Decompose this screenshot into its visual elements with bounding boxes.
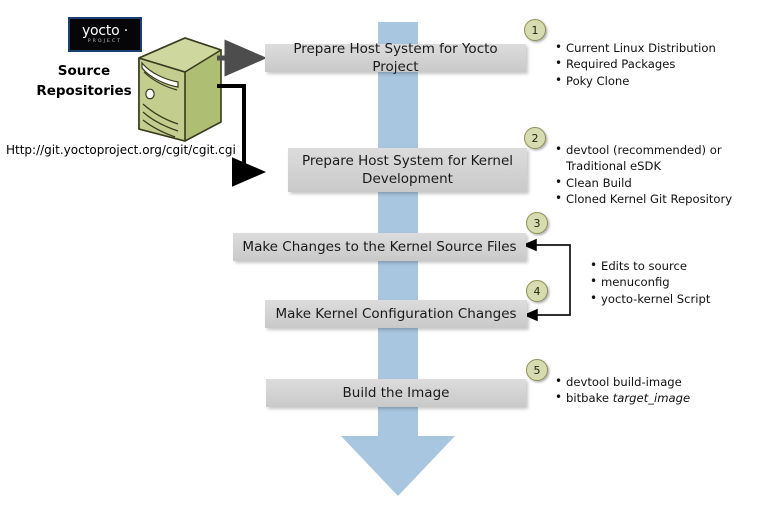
note-item: Required Packages	[566, 56, 763, 72]
note-item: devtool build-image	[566, 374, 758, 390]
yocto-project-logo: yocto · PROJECT	[68, 17, 142, 52]
process-box-step3[interactable]: Make Changes to the Kernel Source Files	[233, 233, 526, 261]
source-repositories-label: Source Repositories	[26, 62, 142, 101]
main-flow-arrow-shaft	[378, 22, 418, 437]
note-item: Clean Build	[566, 175, 759, 191]
yocto-logo-subtext: PROJECT	[88, 40, 122, 45]
note-item: Cloned Kernel Git Repository	[566, 191, 759, 207]
step-circle-2: 2	[524, 127, 546, 149]
diagram-canvas: yocto · PROJECT Source Repositories Http…	[0, 0, 769, 517]
step-circle-1: 1	[524, 19, 546, 41]
main-flow-arrow-head	[341, 436, 455, 496]
source-repositories-label-line2: Repositories	[26, 82, 142, 102]
source-repositories-url: Http://git.yoctoproject.org/cgit/cgit.cg…	[6, 143, 236, 157]
step-circle-5: 5	[526, 359, 548, 381]
process-box-step4[interactable]: Make Kernel Configuration Changes	[265, 300, 527, 328]
notes-step2: devtool (recommended) or Traditional eSD…	[553, 142, 759, 208]
step-circle-3: 3	[526, 212, 548, 234]
note-item: yocto-kernel Script	[601, 291, 763, 307]
note-item: Poky Clone	[566, 73, 763, 89]
note-item-emphasis: target_image	[613, 391, 690, 405]
notes-step3-step4: Edits to source menuconfig yocto-kernel …	[588, 258, 763, 307]
note-item: Current Linux Distribution	[566, 40, 763, 56]
note-item-prefix: bitbake	[566, 391, 613, 405]
process-box-step1[interactable]: Prepare Host System for Yocto Project	[265, 44, 526, 72]
notes-step5: devtool build-image bitbake target_image	[553, 374, 758, 407]
source-repositories-label-line1: Source	[26, 62, 142, 82]
process-box-step5[interactable]: Build the Image	[266, 379, 526, 407]
note-item: Edits to source	[601, 258, 763, 274]
note-item: menuconfig	[601, 274, 763, 290]
yocto-logo-wordmark: yocto ·	[82, 24, 128, 38]
step-circle-4: 4	[526, 280, 548, 302]
process-box-step2[interactable]: Prepare Host System for Kernel Developme…	[288, 148, 527, 192]
server-tower-icon	[133, 36, 225, 143]
note-item: bitbake target_image	[566, 390, 758, 406]
note-item: devtool (recommended) or Traditional eSD…	[566, 142, 759, 175]
notes-step1: Current Linux Distribution Required Pack…	[553, 40, 763, 89]
